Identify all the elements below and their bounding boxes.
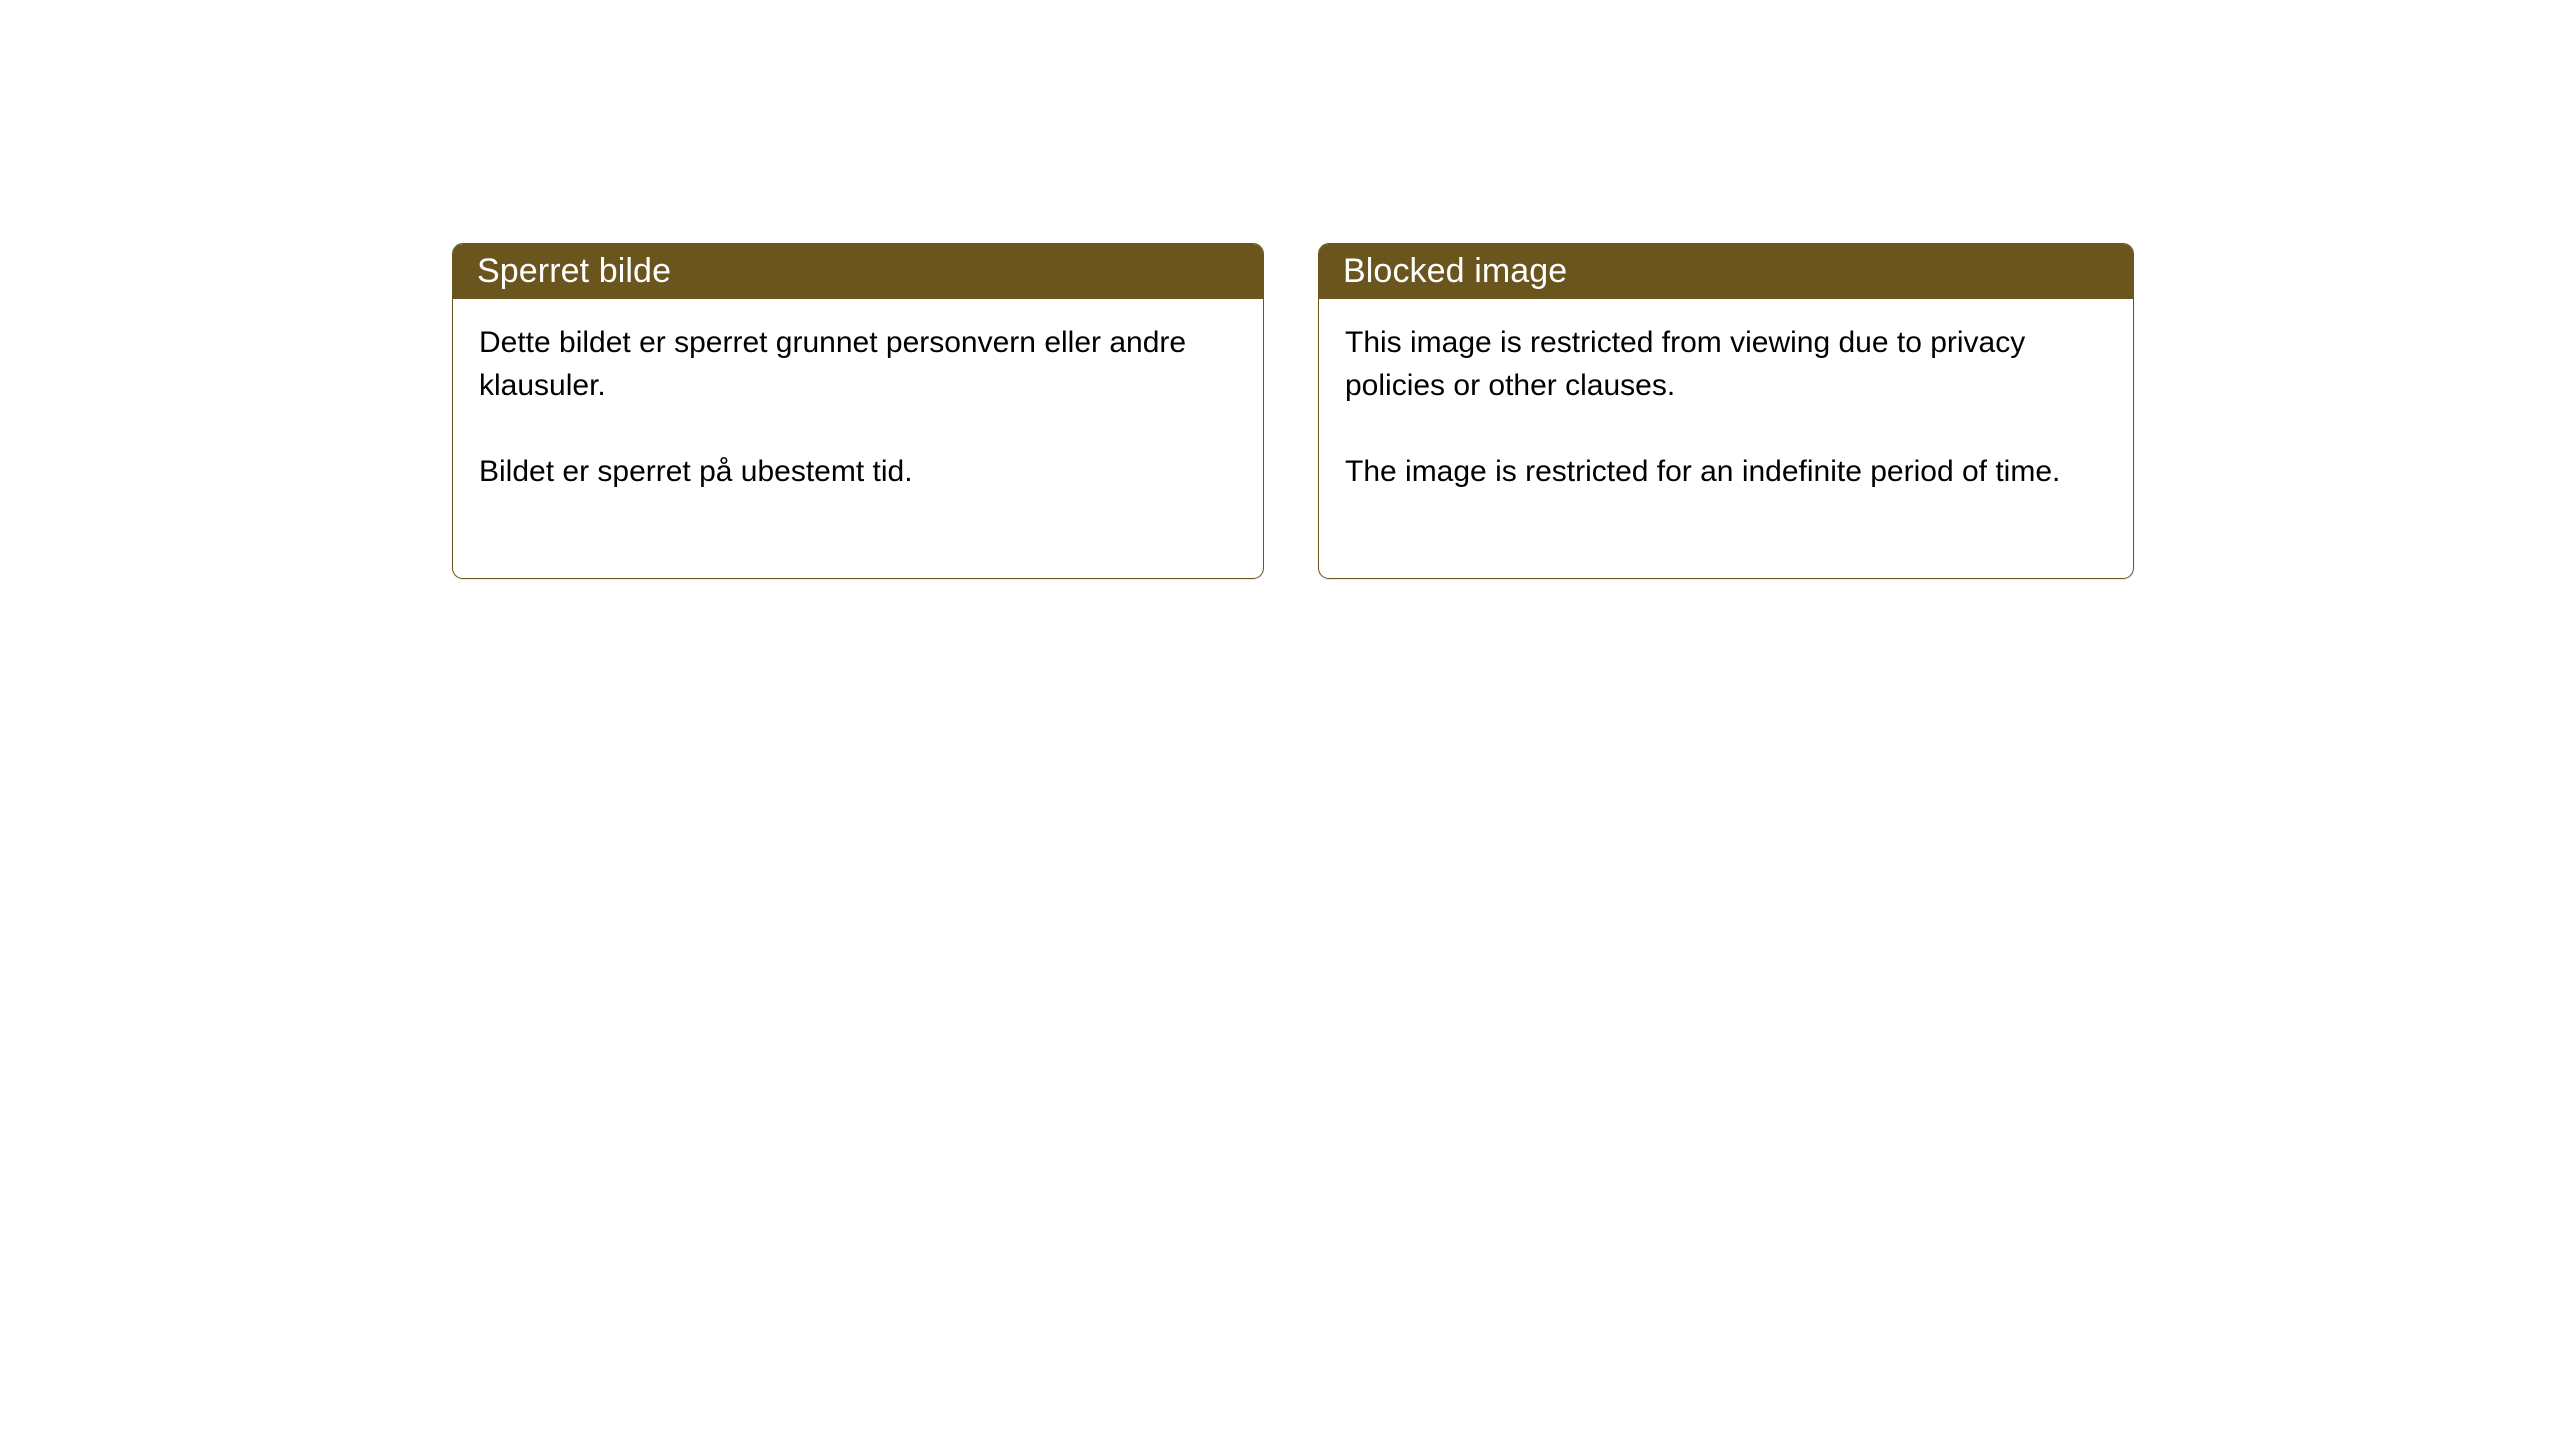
page-canvas: Sperret bilde Dette bildet er sperret gr… <box>0 0 2560 1440</box>
blocked-image-card-english: Blocked image This image is restricted f… <box>1318 243 2134 579</box>
card-title: Blocked image <box>1343 254 1567 288</box>
card-title: Sperret bilde <box>477 254 671 288</box>
blocked-image-card-norwegian: Sperret bilde Dette bildet er sperret gr… <box>452 243 1264 579</box>
card-header: Blocked image <box>1318 243 2134 299</box>
card-paragraph: The image is restricted for an indefinit… <box>1345 450 2107 493</box>
card-body: This image is restricted from viewing du… <box>1319 299 2133 493</box>
card-paragraph: Dette bildet er sperret grunnet personve… <box>479 321 1237 407</box>
card-body: Dette bildet er sperret grunnet personve… <box>453 299 1263 493</box>
card-header: Sperret bilde <box>452 243 1264 299</box>
card-paragraph: This image is restricted from viewing du… <box>1345 321 2107 407</box>
card-paragraph: Bildet er sperret på ubestemt tid. <box>479 450 1237 493</box>
